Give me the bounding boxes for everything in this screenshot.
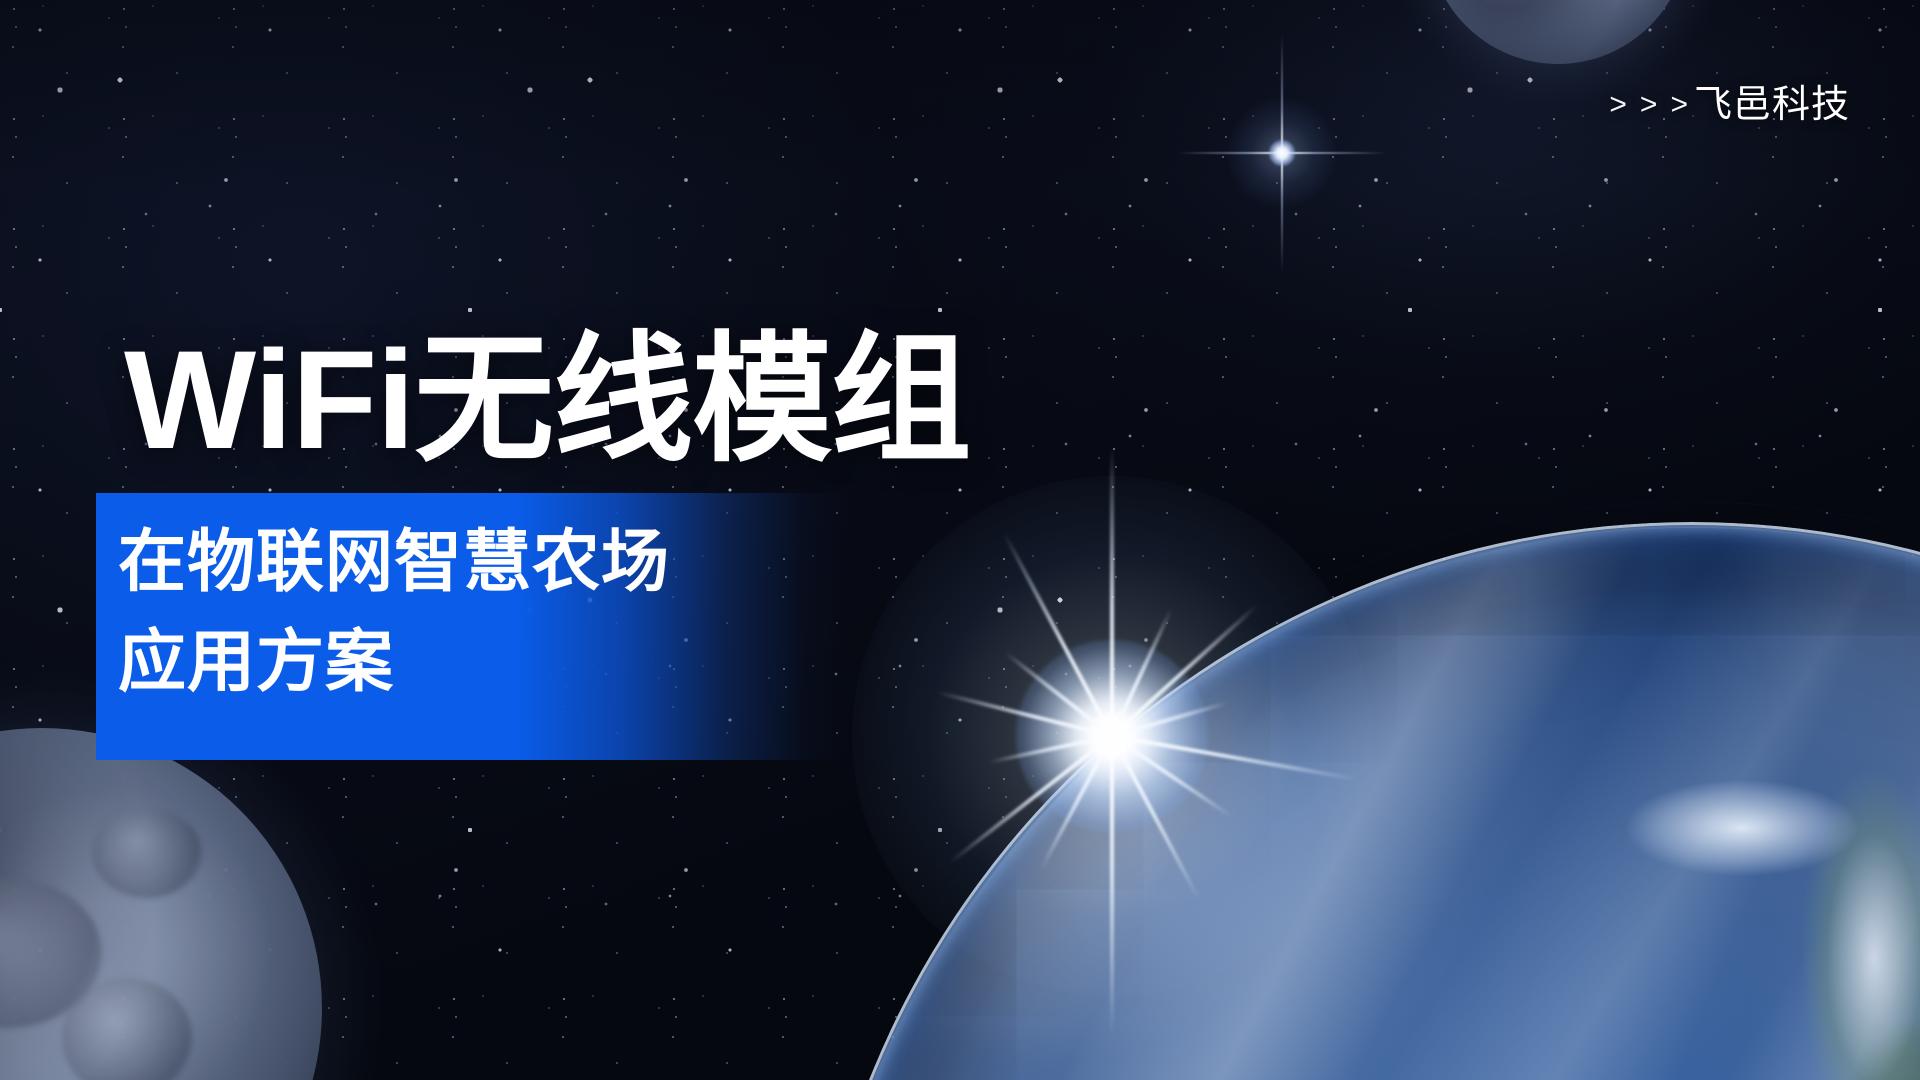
subtitle-line-1: 在物联网智慧农场 — [118, 512, 670, 612]
brand-logo: > > > 飞邑科技 — [1609, 86, 1850, 124]
sun-flare-spike — [1110, 446, 1114, 736]
brand-name: 飞邑科技 — [1694, 86, 1850, 124]
chevron-right-icon: > — [1640, 90, 1658, 120]
subtitle-line-2: 应用方案 — [118, 612, 670, 712]
moon-crater — [92, 808, 202, 898]
chevron-right-icon: > — [1609, 90, 1627, 120]
bright-star-core — [1269, 140, 1295, 166]
chevron-right-icon: > — [1670, 90, 1688, 120]
moon-crater — [62, 978, 192, 1080]
chevron-group: > > > — [1609, 90, 1688, 120]
poster-canvas: > > > 飞邑科技 WiFi无线模组 在物联网智慧农场 应用方案 — [0, 0, 1920, 1080]
sun-flare-spike — [1110, 736, 1114, 1036]
page-title: WiFi无线模组 — [124, 330, 970, 470]
subtitle-text: 在物联网智慧农场 应用方案 — [118, 512, 670, 712]
